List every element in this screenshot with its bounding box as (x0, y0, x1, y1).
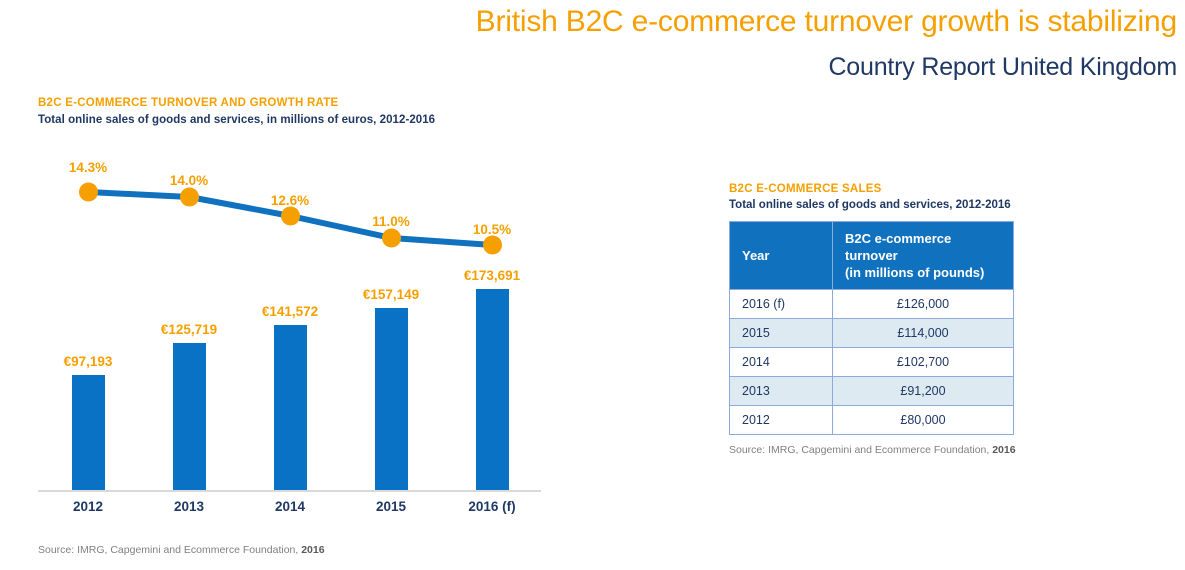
table-row: 2014 £102,700 (730, 348, 1014, 377)
growth-rate-marker-2016 (483, 236, 502, 255)
chart-panel: B2C E-COMMERCE TURNOVER AND GROWTH RATE … (0, 92, 700, 570)
table-cell-year: 2013 (730, 377, 833, 406)
table-cell-year: 2016 (f) (730, 290, 833, 319)
growth-rate-marker-2012 (79, 183, 98, 202)
growth-rate-marker-2013 (180, 188, 199, 207)
growth-rate-line-series (0, 92, 700, 532)
table-subheading: Total online sales of goods and services… (729, 199, 1029, 211)
table-cell-year: 2014 (730, 348, 833, 377)
table-cell-turnover: £102,700 (833, 348, 1014, 377)
table-cell-year: 2015 (730, 319, 833, 348)
combo-chart-plot-area: €97,193 €125,719 €141,572 €157,149 €173,… (0, 92, 700, 532)
table-heading: B2C E-COMMERCE SALES (729, 183, 1029, 195)
table-header-row: Year B2C e-commerce turnover (in million… (730, 222, 1014, 290)
table-header-turnover-line2: (in millions of pounds) (845, 265, 984, 280)
table-row: 2012 £80,000 (730, 406, 1014, 435)
table-cell-turnover: £80,000 (833, 406, 1014, 435)
growth-rate-label-2014: 12.6% (230, 193, 350, 208)
sales-table-panel: B2C E-COMMERCE SALES Total online sales … (729, 183, 1029, 456)
growth-rate-label-2013: 14.0% (129, 173, 249, 188)
growth-rate-label-2016: 10.5% (432, 222, 552, 237)
table-source-text: Source: IMRG, Capgemini and Ecommerce Fo… (729, 444, 992, 456)
table-cell-turnover: £126,000 (833, 290, 1014, 319)
growth-rate-marker-2015 (382, 229, 401, 248)
chart-source-text: Source: IMRG, Capgemini and Ecommerce Fo… (38, 544, 301, 556)
chart-source-year: 2016 (301, 544, 324, 556)
b2c-sales-table: Year B2C e-commerce turnover (in million… (729, 221, 1014, 435)
page-header: British B2C e-commerce turnover growth i… (0, 0, 1185, 92)
table-source-note: Source: IMRG, Capgemini and Ecommerce Fo… (729, 444, 1029, 456)
x-axis-label-2016: 2016 (f) (432, 499, 552, 514)
table-row: 2013 £91,200 (730, 377, 1014, 406)
table-header-year: Year (730, 222, 833, 290)
table-header-turnover: B2C e-commerce turnover (in millions of … (833, 222, 1014, 290)
table-row: 2016 (f) £126,000 (730, 290, 1014, 319)
table-cell-year: 2012 (730, 406, 833, 435)
growth-rate-marker-2014 (281, 207, 300, 226)
table-header-turnover-line1: B2C e-commerce turnover (845, 231, 951, 263)
table-row: 2015 £114,000 (730, 319, 1014, 348)
table-cell-turnover: £114,000 (833, 319, 1014, 348)
table-source-year: 2016 (992, 444, 1015, 456)
chart-source-note: Source: IMRG, Capgemini and Ecommerce Fo… (38, 544, 325, 556)
page-title: British B2C e-commerce turnover growth i… (476, 2, 1177, 42)
page-subtitle: Country Report United Kingdom (828, 50, 1177, 84)
table-cell-turnover: £91,200 (833, 377, 1014, 406)
